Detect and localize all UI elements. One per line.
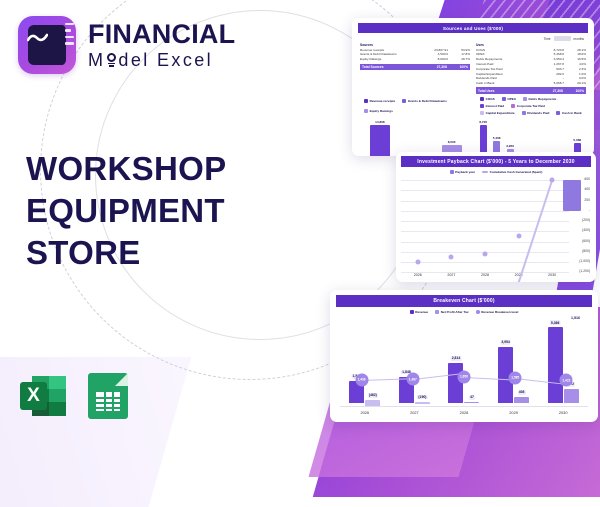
brand-logo: FINANCIAL M del Excel <box>18 16 235 74</box>
legend-item: Interest Paid <box>480 104 504 108</box>
revenue-bar: 1,848 <box>399 377 414 403</box>
data-point <box>483 252 488 257</box>
breakeven-axis-note: 1,516 <box>336 316 592 320</box>
x-tick: 2027 <box>390 410 440 415</box>
sources-bar-chart: 14,808 3,500 8,000 <box>362 117 470 156</box>
sources-total-value: 27,308 <box>419 65 447 69</box>
sources-time-filter[interactable]: Time months <box>358 36 584 41</box>
card-title-sources: Sources and Uses ($'000) <box>358 23 588 33</box>
wave-line-icon <box>27 32 48 44</box>
revenue-bar: 5,366 <box>548 327 563 402</box>
legend-item: OPEX <box>502 97 516 101</box>
revenue-bar: 2,814 <box>448 363 463 403</box>
sources-uses-bar-charts: 14,808 3,500 8,000 8,720 5,468 3,950 1,2… <box>358 117 588 156</box>
legend-breakeven: Revenue Net Profit After Tax Revenue Bre… <box>336 307 592 316</box>
breakeven-axis-line <box>340 406 588 407</box>
uses-header: Uses <box>476 43 586 47</box>
page-title-line: WORKSHOP <box>26 148 226 190</box>
filter-value-box[interactable] <box>554 36 571 41</box>
sources-uses-tables: Sources Revenue receipts 23,807.91 53.9%… <box>358 43 588 94</box>
brand-secondary-pre: M <box>88 51 105 69</box>
page-title-line: STORE <box>26 232 226 274</box>
legend-item: Cash in Bank <box>556 111 581 115</box>
legend-item: Dividends Paid <box>522 111 550 115</box>
legend-item: Revenue <box>410 310 429 314</box>
filter-label-months: months <box>574 36 584 41</box>
legend-sources: Revenue receipts Grants & Debt Drawdowns… <box>360 94 470 117</box>
sources-table: Sources Revenue receipts 23,807.91 53.9%… <box>360 43 470 94</box>
x-tick: 2029 <box>489 410 539 415</box>
npat-bar: 972 <box>564 389 579 403</box>
filter-label-time: Time <box>544 36 551 41</box>
card-investment-payback[interactable]: Investment Payback Chart ($'000) - 5 Yea… <box>396 152 596 282</box>
excel-icon-glyph: X <box>20 382 47 410</box>
x-tick: 2026 <box>340 410 390 415</box>
brand-name-secondary: M del Excel <box>88 51 235 69</box>
excel-icon[interactable]: X <box>20 373 66 419</box>
breakeven-group: 1,848 (190) <box>390 325 440 407</box>
card-title-breakeven: Breakeven Chart ($'000) <box>336 295 592 307</box>
legend-item: Capital Expenditure <box>480 111 515 115</box>
uses-table: Uses COGS 8,720.8 28.1% OPEX 5,468.8 18.… <box>476 43 586 94</box>
page-title-line: EQUIPMENT <box>26 190 226 232</box>
uses-bar-chart: 8,720 5,468 3,950 1,268 603 282 - 5,068 <box>477 117 585 156</box>
uses-total-pct: 100% <box>563 89 584 93</box>
legend-item: Debts Repayments <box>523 97 556 101</box>
data-point <box>516 234 521 239</box>
card-title-payback: Investment Payback Chart ($'000) - 5 Yea… <box>401 156 591 167</box>
legend-item: Corporate Tax Paid <box>511 104 545 108</box>
card-sources-and-uses[interactable]: Sources and Uses ($'000) Time months Sou… <box>352 18 594 156</box>
breakeven-group: 2,814 47 <box>439 325 489 407</box>
breakeven-group: 5,366 972 <box>538 325 588 407</box>
legend-uses: COGS OPEX Debts Repayments Interest Paid… <box>476 94 586 117</box>
sources-row: Equity Raisings 8,000.0 28.7% <box>360 57 470 62</box>
brand-name-primary: FINANCIAL <box>88 21 235 48</box>
brand-secondary-post: del Excel <box>118 51 213 69</box>
breakeven-x-axis: 20262027202820292030 <box>336 410 592 415</box>
data-point <box>550 178 555 183</box>
bulb-icon <box>106 53 117 68</box>
legend-item: Net Profit After Tax <box>435 310 468 314</box>
uses-row: Cash in Bank 5,068.7 29.1% <box>476 81 586 86</box>
legend-item: Grants & Debt Drawdowns <box>402 97 447 105</box>
legend-item: Payback year <box>450 170 475 174</box>
breakeven-group: 1,540 (462) <box>340 325 390 407</box>
cumulative-cash-points <box>401 180 569 272</box>
x-tick: 2028 <box>439 410 489 415</box>
sources-total-label: Total Sources <box>362 65 419 69</box>
breakeven-group: 3,954 408 <box>489 325 539 407</box>
file-format-icons: X <box>20 373 128 419</box>
payback-plot-area: 600 400 200 - (200) (400) (600) (800) (1… <box>401 180 591 272</box>
legend-item: Revenue receipts <box>364 97 395 105</box>
legend-item: Equity Raisings <box>364 107 393 115</box>
sources-total-pct: 100% <box>447 65 468 69</box>
npat-bar: 47 <box>464 402 479 403</box>
revenue-bar: 3,954 <box>498 347 513 403</box>
legend-payback: Payback year Cumulative Cash Generated (… <box>401 167 591 176</box>
breakeven-plot-area: 1,540 (462) 1,848 (190) 2,814 47 3,954 4… <box>336 325 592 407</box>
npat-bar: (190) <box>415 402 430 405</box>
google-sheets-icon[interactable] <box>88 373 128 419</box>
npat-bar: 408 <box>514 397 529 403</box>
data-point <box>449 254 454 259</box>
data-point <box>415 259 420 264</box>
uses-total-value: 27,308 <box>535 89 563 93</box>
bar: 14,808 <box>370 125 390 156</box>
x-tick: 2030 <box>538 410 588 415</box>
chart-document-icon <box>18 16 76 74</box>
page-title: WORKSHOPEQUIPMENTSTORE <box>26 148 226 275</box>
card-breakeven-chart[interactable]: Breakeven Chart ($'000) Revenue Net Prof… <box>330 290 598 422</box>
sources-total-row: Total Sources 27,308 100% <box>360 64 470 70</box>
legend-item: Revenue Breakeven level <box>476 310 519 314</box>
legend-item: COGS <box>480 97 495 101</box>
uses-total-label: Total Uses <box>478 89 535 93</box>
legend-item: Cumulative Cash Generated (Spent) <box>482 170 542 174</box>
revenue-bar: 1,540 <box>349 381 364 403</box>
sources-header: Sources <box>360 43 470 47</box>
document-lines-icon <box>65 23 74 49</box>
